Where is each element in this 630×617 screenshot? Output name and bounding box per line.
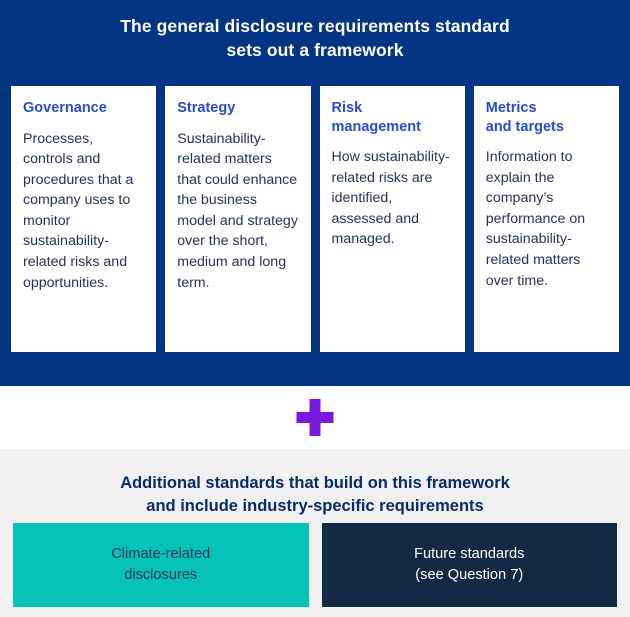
climate-box-line-1: Climate-related [111,544,210,565]
pillar-cards-row: Governance Processes, controls and proce… [11,86,619,352]
pillar-card-metrics-and-targets: Metrics and targets Information to expla… [474,86,619,352]
climate-box-line-2: disclosures [111,565,210,586]
pillar-body-governance: Processes, controls and procedures that … [23,129,144,294]
future-box-line-1: Future standards [414,544,524,565]
pillar-card-governance: Governance Processes, controls and proce… [11,86,156,352]
connector-zone [0,386,630,449]
standard-box-climate-related-disclosures: Climate-related disclosures [13,523,309,607]
plus-icon [297,399,334,436]
pillar-card-strategy: Strategy Sustainability-related matters … [165,86,310,352]
additional-standards-panel: Additional standards that build on this … [0,449,630,617]
pillar-body-metrics-and-targets: Information to explain the company’s per… [486,147,607,291]
top-panel-title: The general disclosure requirements stan… [0,14,630,62]
future-box-line-2: (see Question 7) [414,565,524,586]
pillar-card-risk-management: Risk management How sustainability-relat… [320,86,465,352]
bottom-title-line-1: Additional standards that build on this … [0,472,630,495]
pillar-title-strategy: Strategy [177,99,298,118]
general-requirements-panel: The general disclosure requirements stan… [0,0,630,386]
pillar-title-risk-management: Risk management [332,99,453,136]
bottom-panel-title: Additional standards that build on this … [0,472,630,518]
bottom-title-line-2: and include industry-specific requiremen… [0,495,630,518]
pillar-body-risk-management: How sustainability-related risks are ide… [332,147,453,250]
top-title-line-1: The general disclosure requirements stan… [0,14,630,38]
pillar-body-strategy: Sustainability-related matters that coul… [177,129,298,294]
standards-boxes-row: Climate-related disclosures Future stand… [13,523,617,607]
standard-box-future-standards: Future standards (see Question 7) [322,523,618,607]
pillar-title-governance: Governance [23,99,144,118]
framework-diagram: The general disclosure requirements stan… [0,0,630,617]
top-title-line-2: sets out a framework [0,38,630,62]
pillar-title-metrics-and-targets: Metrics and targets [486,99,607,136]
